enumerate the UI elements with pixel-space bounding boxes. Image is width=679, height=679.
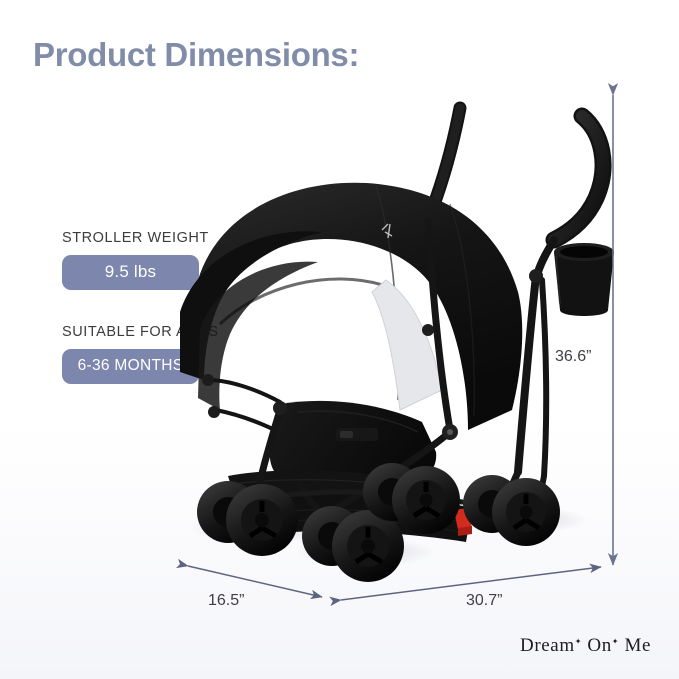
logo-star-icon: ✦ xyxy=(575,637,582,646)
cup-holder xyxy=(554,243,614,316)
depth-dimension-label: 16.5” xyxy=(208,592,244,610)
page-title: Product Dimensions: xyxy=(33,36,359,74)
wheel-rear-right xyxy=(463,475,560,546)
logo-word-me: Me xyxy=(624,635,651,656)
logo-word-dream: Dream xyxy=(520,635,575,656)
logo-star-icon-2: ✦ xyxy=(612,637,619,646)
product-dimensions-page: Product Dimensions: STROLLER WEIGHT 9.5 … xyxy=(0,0,679,679)
canopy xyxy=(180,183,522,430)
stroller-illustration xyxy=(150,80,630,580)
wheel-front-left xyxy=(197,481,298,556)
length-dimension-label: 30.7” xyxy=(466,592,502,610)
brand-logo: Dream✦ On✦ Me xyxy=(520,635,651,657)
logo-word-on: On xyxy=(587,635,611,656)
height-dimension-label: 36.6” xyxy=(555,348,591,366)
